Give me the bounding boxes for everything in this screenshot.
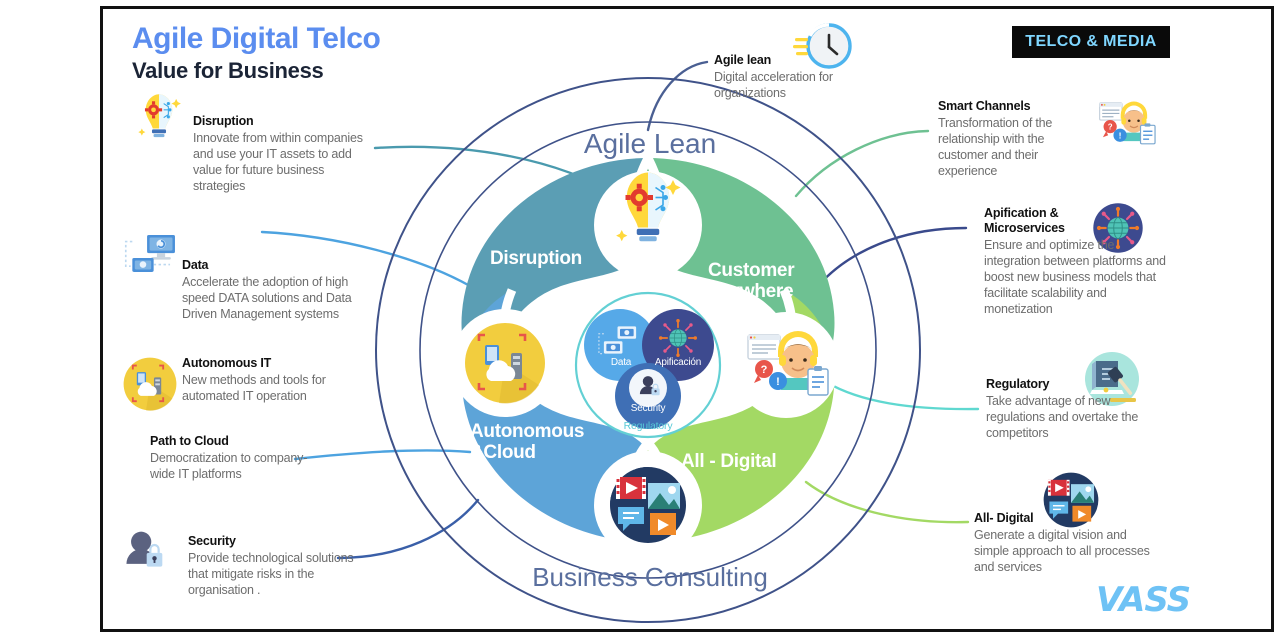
block-security-heading: Security	[188, 534, 366, 549]
block-all-digital-heading: All- Digital	[974, 511, 1152, 526]
person-lock-icon-left	[126, 532, 162, 567]
microservices-globe-icon-core	[659, 319, 697, 357]
block-smart-channels-body: Transformation of the relationship with …	[938, 115, 1096, 179]
block-disruption: Disruption Innovate from within companie…	[193, 114, 375, 194]
core-label-security: Security	[622, 403, 674, 414]
block-apification-microservices: Apification & Microservices Ensure and o…	[984, 206, 1166, 317]
core-label-regulatory: Regulatory	[612, 420, 684, 432]
connector-agile-lean	[648, 62, 707, 130]
block-regulatory-body: Take advantage of new regulations and ov…	[986, 393, 1156, 441]
block-apification-microservices-heading: Apification & Microservices	[984, 206, 1166, 236]
media-collage-icon-center	[610, 467, 686, 543]
core-label-data: Data	[604, 357, 638, 368]
sector-badge-label: TELCO & MEDIA	[1025, 33, 1156, 51]
block-path-to-cloud-heading: Path to Cloud	[150, 434, 330, 449]
cloud-devices-icon-center	[465, 323, 545, 403]
block-agile-lean-body: Digital acceleration for organizations	[714, 69, 874, 101]
block-autonomous-it: Autonomous IT New methods and tools for …	[182, 356, 362, 404]
block-security-body: Provide technological solutions that mit…	[188, 550, 366, 598]
block-path-to-cloud-body: Democratization to company-wide IT platf…	[150, 450, 330, 482]
connector-regulatory	[826, 382, 978, 409]
core-label-apification: Apificación	[646, 357, 710, 368]
diagram-outer-top-label: Agile Lean	[560, 128, 740, 160]
block-regulatory: Regulatory Take advantage of new regulat…	[986, 377, 1156, 441]
headset-agent-icon-right: ? !	[1100, 102, 1155, 144]
page-title-line1: Agile Digital Telco	[132, 22, 380, 56]
block-disruption-heading: Disruption	[193, 114, 375, 129]
block-data: Data Accelerate the adoption of high spe…	[182, 258, 374, 322]
block-security: Security Provide technological solutions…	[188, 534, 366, 598]
page-title-line2: Value for Business	[132, 58, 323, 84]
block-apification-microservices-body: Ensure and optimize the integration betw…	[984, 237, 1166, 317]
cloud-devices-icon-left	[124, 358, 177, 411]
block-agile-lean: Agile lean Digital acceleration for orga…	[714, 53, 874, 101]
block-agile-lean-heading: Agile lean	[714, 53, 874, 68]
petal-label-disruption: Disruption	[490, 248, 582, 269]
block-autonomous-it-body: New methods and tools for automated IT o…	[182, 372, 362, 404]
svg-text:!: !	[1119, 131, 1122, 141]
block-regulatory-heading: Regulatory	[986, 377, 1156, 392]
block-data-heading: Data	[182, 258, 374, 273]
slide-root: ? !	[0, 0, 1280, 640]
svg-text:?: ?	[1108, 122, 1113, 131]
block-data-body: Accelerate the adoption of high speed DA…	[182, 274, 374, 322]
diagram-outer-bottom-label: Business Consulting	[518, 562, 782, 593]
lightbulb-gear-icon-left	[138, 94, 181, 137]
block-autonomous-it-heading: Autonomous IT	[182, 356, 362, 371]
svg-text:!: !	[776, 376, 780, 388]
petal-label-all-digital: All - Digital	[681, 451, 776, 472]
block-smart-channels-heading: Smart Channels	[938, 99, 1096, 114]
sector-badge: TELCO & MEDIA	[1012, 26, 1170, 58]
svg-text:?: ?	[761, 364, 768, 376]
data-sync-monitors-icon-left	[126, 235, 175, 272]
block-all-digital-body: Generate a digital vision and simple app…	[974, 527, 1152, 575]
connector-apification	[818, 228, 966, 286]
connector-smart-channels	[796, 131, 928, 196]
petal-label-customer-anywhere: Customer anywhere	[708, 260, 794, 303]
block-path-to-cloud: Path to Cloud Democratization to company…	[150, 434, 330, 482]
block-all-digital: All- Digital Generate a digital vision a…	[974, 511, 1152, 575]
block-smart-channels: Smart Channels Transformation of the rel…	[938, 99, 1096, 179]
block-disruption-body: Innovate from within companies and use y…	[193, 130, 375, 194]
petal-label-autonomous-cloud: Autonomous &Cloud	[470, 421, 584, 464]
vass-logo: VASS	[1096, 580, 1190, 620]
